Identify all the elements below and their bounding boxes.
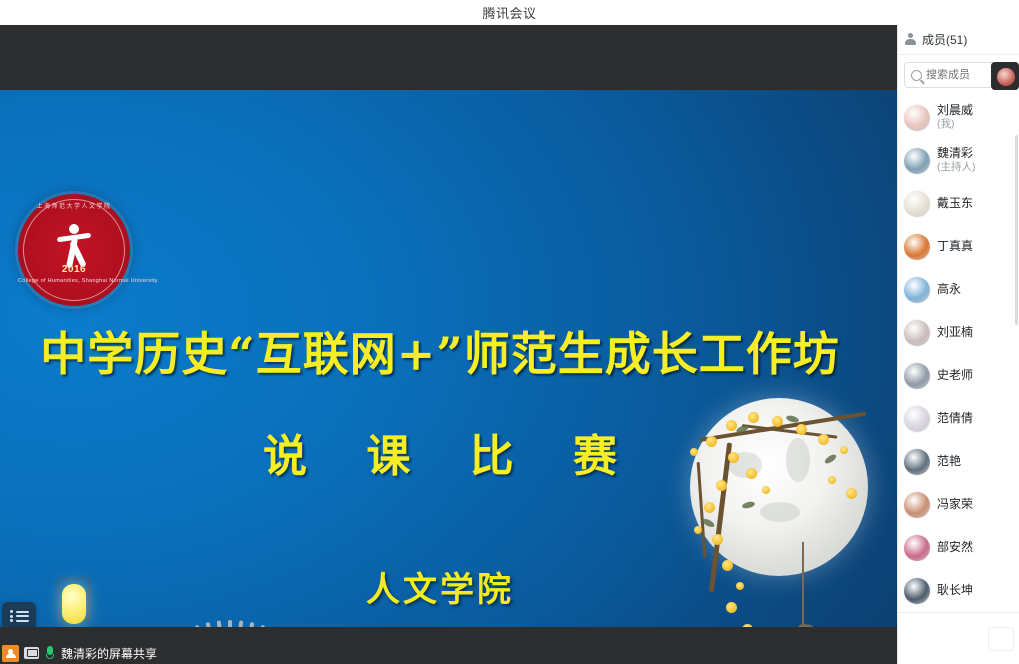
window-title: 腾讯会议 — [482, 3, 536, 22]
microphone-icon[interactable] — [44, 646, 56, 661]
participants-panel-header: 成员(51) — [898, 25, 1019, 55]
avatar — [904, 535, 930, 561]
participant-name: 史老师 — [937, 369, 973, 383]
participant-name: 魏清彩 — [937, 147, 976, 161]
participant-name: 刘亚楠 — [937, 326, 973, 340]
share-status-bar: 魏清彩的屏幕共享 — [0, 642, 180, 664]
participant-name: 耿长坤 — [937, 584, 973, 598]
participants-panel-footer — [898, 612, 1019, 664]
participant-row[interactable]: 丁真真 — [898, 225, 1019, 268]
presentation-slide: 上海师范大学人文学院 2016 College of Humanities, S… — [0, 90, 897, 627]
participants-panel: 成员(51) 刘晨威(我)魏清彩(主持人)戴玉东丁真真高永刘亚楠史老师范倩倩范艳… — [897, 25, 1019, 664]
screen-share-icon[interactable] — [24, 647, 39, 659]
participant-row[interactable]: 范倩倩 — [898, 397, 1019, 440]
participant-name: 范艳 — [937, 455, 961, 469]
participant-name: 冯家荣 — [937, 498, 973, 512]
slide-list-button[interactable] — [2, 602, 36, 627]
participant-row[interactable]: 史老师 — [898, 354, 1019, 397]
avatar — [997, 68, 1015, 86]
search-area — [904, 62, 1013, 88]
self-video-tile[interactable] — [991, 62, 1019, 90]
avatar — [904, 406, 930, 432]
avatar — [904, 148, 930, 174]
panel-scrollbar[interactable] — [1015, 135, 1018, 325]
slide-title: 中学历史“互联网+”师范生成长工作坊 — [0, 318, 880, 384]
search-icon — [911, 70, 922, 81]
participant-name: 高永 — [937, 283, 961, 297]
logo-english-text: College of Humanities, Shanghai Normal U… — [18, 278, 130, 284]
slide-subtitle: 说 课 比 赛 — [0, 420, 880, 484]
participants-title: 成员(51) — [922, 31, 967, 48]
participant-name: 部安然 — [937, 541, 973, 555]
participant-row[interactable]: 刘亚楠 — [898, 311, 1019, 354]
avatar — [904, 363, 930, 389]
participants-list[interactable]: 刘晨威(我)魏清彩(主持人)戴玉东丁真真高永刘亚楠史老师范倩倩范艳冯家荣部安然耿… — [898, 92, 1019, 612]
window-titlebar: 腾讯会议 — [0, 0, 1019, 25]
participant-row[interactable]: 魏清彩(主持人) — [898, 139, 1019, 182]
avatar — [904, 449, 930, 475]
participant-role-tag: (我) — [937, 118, 973, 131]
avatar — [904, 234, 930, 260]
participant-row[interactable]: 冯家荣 — [898, 483, 1019, 526]
search-input[interactable] — [926, 69, 990, 81]
search-box[interactable] — [904, 62, 998, 88]
logo-chinese-text: 上海师范大学人文学院 — [18, 201, 130, 210]
logo-year: 2016 — [18, 264, 130, 275]
user-icon — [2, 645, 19, 662]
meeting-window: 腾讯会议 上海师范大学人文学院 2016 College of Humaniti… — [0, 0, 1019, 664]
participant-name: 范倩倩 — [937, 412, 973, 426]
participant-row[interactable]: 刘晨威(我) — [898, 96, 1019, 139]
avatar — [904, 492, 930, 518]
slide-date: 2023年1月8日 — [0, 626, 880, 627]
participant-role-tag: (主持人) — [937, 161, 976, 174]
participant-name: 丁真真 — [937, 240, 973, 254]
participant-row[interactable]: 部安然 — [898, 526, 1019, 569]
avatar — [904, 191, 930, 217]
share-status-text: 魏清彩的屏幕共享 — [61, 645, 157, 662]
avatar — [904, 277, 930, 303]
avatar — [904, 578, 930, 604]
slide-organization: 人文学院 — [0, 562, 880, 611]
avatar — [904, 105, 930, 131]
participant-row[interactable]: 范艳 — [898, 440, 1019, 483]
university-logo: 上海师范大学人文学院 2016 College of Humanities, S… — [18, 194, 130, 306]
participant-row[interactable]: 高永 — [898, 268, 1019, 311]
participant-row[interactable]: 耿长坤 — [898, 569, 1019, 612]
logo-figure-icon — [57, 224, 91, 268]
participants-icon — [904, 33, 917, 46]
participant-name: 刘晨威 — [937, 104, 973, 118]
participant-name: 戴玉东 — [937, 197, 973, 211]
avatar — [904, 320, 930, 346]
footer-placeholder-button[interactable] — [988, 627, 1014, 651]
participant-row[interactable]: 戴玉东 — [898, 182, 1019, 225]
shared-screen-stage[interactable]: 上海师范大学人文学院 2016 College of Humanities, S… — [0, 25, 897, 664]
